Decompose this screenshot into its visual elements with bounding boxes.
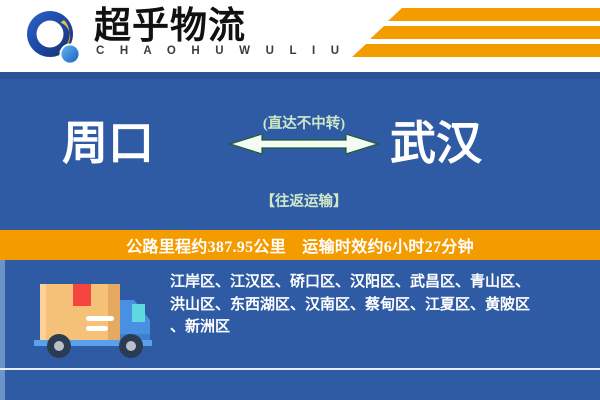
- district-line-3: 、新洲区: [170, 316, 588, 339]
- district-line-1: 江岸区、江汉区、硚口区、汉阳区、武昌区、青山区、: [170, 271, 588, 294]
- left-accent-bar: [0, 260, 5, 400]
- brand-name-chinese: 超乎物流: [94, 8, 246, 46]
- logistics-route-banner: 超乎物流 C H A O H U W U L I U 周口 武汉 (直达不中转)…: [0, 0, 600, 400]
- coverage-section: 江岸区、江汉区、硚口区、汉阳区、武昌区、青山区、 洪山区、东西湖区、汉南区、蔡甸…: [0, 260, 600, 400]
- origin-city: 周口: [62, 118, 154, 170]
- route-section: 周口 武汉 (直达不中转) 【往返运输】: [0, 72, 600, 230]
- bidirectional-arrow-icon: [228, 134, 380, 187]
- stripe-bottom: [352, 44, 600, 57]
- banner-header: 超乎物流 C H A O H U W U L I U: [0, 0, 600, 72]
- district-line-2: 洪山区、东西湖区、汉南区、蔡甸区、江夏区、黄陂区: [170, 294, 588, 317]
- orange-speed-stripes-icon: [350, 6, 600, 66]
- destination-city: 武汉: [390, 118, 482, 170]
- covered-districts-list: 江岸区、江汉区、硚口区、汉阳区、武昌区、青山区、 洪山区、东西湖区、汉南区、蔡甸…: [170, 271, 588, 339]
- stripe-top: [388, 8, 600, 21]
- distance-time-text: 公路里程约387.95公里 运输时效约6小时27分钟: [126, 233, 474, 257]
- round-trip-tag: 【往返运输】: [228, 190, 380, 211]
- route-arrow-group: (直达不中转) 【往返运输】: [228, 112, 380, 216]
- chaohu-circle-logo-icon: [24, 10, 86, 68]
- direct-shipping-tag: (直达不中转): [228, 112, 380, 133]
- brand-name-pinyin: C H A O H U W U L I U: [96, 45, 345, 57]
- stripe-middle: [370, 26, 600, 39]
- delivery-truck-icon: [26, 270, 156, 362]
- distance-time-bar: 公路里程约387.95公里 运输时效约6小时27分钟: [0, 230, 600, 260]
- route-top-band: [0, 72, 600, 79]
- bottom-divider: [0, 368, 600, 370]
